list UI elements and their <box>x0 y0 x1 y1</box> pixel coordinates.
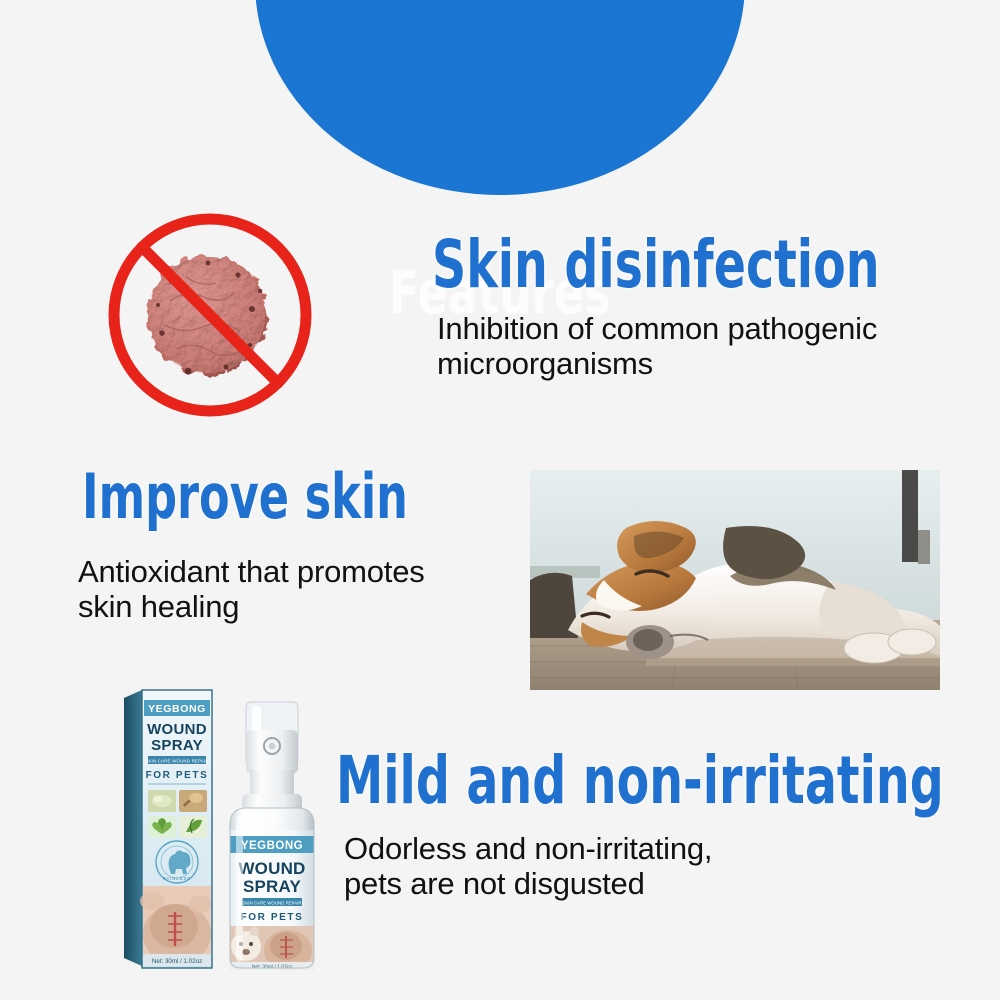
feature-body-mild-non-irritating: Odorless and non-irritating, pets are no… <box>344 832 712 901</box>
product-carton: YEGBONG WOUND SPRAY SKIN CARE WOUND REPA… <box>122 686 214 972</box>
product-packshot: YEGBONG WOUND SPRAY SKIN CARE WOUND REPA… <box>108 684 338 974</box>
svg-text:PAINLESS: PAINLESS <box>163 876 191 881</box>
svg-text:FOR PETS: FOR PETS <box>146 770 209 781</box>
svg-text:SKIN CARE WOUND REPAIR: SKIN CARE WOUND REPAIR <box>145 759 209 764</box>
svg-text:WOUND: WOUND <box>238 859 305 878</box>
svg-text:SPRAY: SPRAY <box>243 877 301 896</box>
feature-body-improve-skin: Antioxidant that promotes skin healing <box>78 555 425 624</box>
feature-heading-improve-skin: Improve skin <box>82 466 408 528</box>
header-banner <box>255 0 745 195</box>
product-spray-bottle: YEGBONG WOUND SPRAY SKIN CARE WOUND REPA… <box>216 698 328 972</box>
svg-text:SKIN CARE WOUND REPAIR: SKIN CARE WOUND REPAIR <box>242 901 301 906</box>
svg-text:FOR PETS: FOR PETS <box>241 912 304 923</box>
no-germs-icon <box>100 205 320 425</box>
svg-text:SPRAY: SPRAY <box>151 737 203 754</box>
infographic-page: Features <box>0 0 1000 1000</box>
svg-text:Net: 30ml / 1.02oz: Net: 30ml / 1.02oz <box>152 958 202 965</box>
svg-text:YEGBONG: YEGBONG <box>148 703 206 715</box>
sleeping-dog-photo <box>530 470 940 690</box>
feature-heading-mild-non-irritating: Mild and non-irritating <box>336 748 944 814</box>
feature-heading-skin-disinfection: Skin disinfection <box>432 232 880 298</box>
svg-text:WOUND: WOUND <box>147 721 207 738</box>
feature-body-skin-disinfection: Inhibition of common pathogenic microorg… <box>437 312 877 381</box>
no-entry-icon <box>114 219 306 411</box>
svg-text:YEGBONG: YEGBONG <box>241 840 303 852</box>
